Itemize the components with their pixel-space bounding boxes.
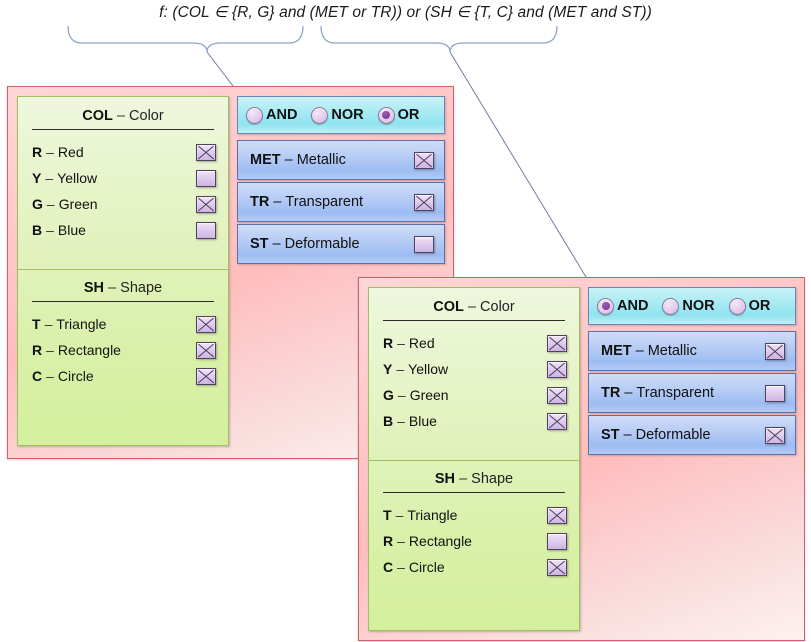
checkbox-color-r-1[interactable] [196,144,216,161]
predicate-code: ST [601,427,620,443]
attribute-group-color-1: COL – Color R – Red Y – [18,97,228,249]
option-code: R [32,342,42,358]
option-code: B [383,413,393,429]
option-dash: – [47,196,55,212]
predicate-label: Transparent [285,194,363,210]
checkbox-color-g-1[interactable] [196,196,216,213]
group-dash-color-2: – [468,299,476,315]
connector-line-clause-2 [450,52,586,277]
option-dash: – [46,342,54,358]
group-name-shape-2: Shape [471,471,513,487]
checkbox-shape-t-2[interactable] [547,507,567,524]
predicate-column-1: AND NOR OR MET – Metallic TR [237,96,445,264]
predicate-dash: – [636,343,644,359]
option-row-shape-r-2[interactable]: R – Rectangle [369,528,579,554]
checkbox-predicate-st-1[interactable] [414,236,434,253]
group-name-color-1: Color [129,108,164,124]
operator-option-nor-2[interactable]: NOR [662,298,714,315]
checkbox-color-y-2[interactable] [547,361,567,378]
option-dash: – [396,507,404,523]
option-row-shape-t-2[interactable]: T – Triangle [369,502,579,528]
predicate-code: TR [250,194,269,210]
checkbox-predicate-tr-2[interactable] [765,385,785,402]
option-row-shape-t-1[interactable]: T – Triangle [18,311,228,337]
checkbox-predicate-met-2[interactable] [765,343,785,360]
group-title-shape-1: SH – Shape [18,269,228,300]
option-code: C [383,559,393,575]
option-label: Red [58,144,84,160]
option-label: Red [409,335,435,351]
attribute-column-2: COL – Color R – Red Y – [368,287,580,631]
option-row-color-b-2[interactable]: B – Blue [369,408,579,434]
operator-selector-1[interactable]: AND NOR OR [237,96,445,134]
predicate-dash: – [273,194,281,210]
option-row-color-r-1[interactable]: R – Red [18,139,228,165]
radio-nor-icon-1[interactable] [311,107,328,124]
group-dash-shape-2: – [459,471,467,487]
attribute-group-shape-1: SH – Shape T – Triangle R – [18,269,228,395]
checkbox-color-y-1[interactable] [196,170,216,187]
predicate-label: Metallic [648,343,697,359]
option-code: C [32,368,42,384]
group-dash-color-1: – [117,108,125,124]
radio-or-icon-2[interactable] [729,298,746,315]
option-dash: – [397,559,405,575]
operator-label: NOR [682,298,714,314]
attribute-group-shape-2: SH – Shape T – Triangle R – [369,460,579,586]
group-title-color-1: COL – Color [18,97,228,128]
checkbox-color-g-2[interactable] [547,387,567,404]
checkbox-predicate-met-1[interactable] [414,152,434,169]
option-dash: – [397,335,405,351]
option-row-color-y-2[interactable]: Y – Yellow [369,356,579,382]
formula-expression: f: (COL ∈ {R, G} and (MET or TR)) or (SH… [0,3,811,22]
option-label: Rectangle [409,533,472,549]
predicate-dash: – [624,427,632,443]
option-label: Yellow [57,170,97,186]
option-label: Blue [409,413,437,429]
option-label: Green [59,196,98,212]
radio-or-icon-1[interactable] [378,107,395,124]
option-dash: – [46,368,54,384]
option-row-color-b-1[interactable]: B – Blue [18,217,228,243]
checkbox-color-r-2[interactable] [547,335,567,352]
option-code: Y [32,170,41,186]
predicate-row-st-2[interactable]: ST – Deformable [588,415,796,455]
predicate-code: MET [601,343,632,359]
operator-label: AND [266,107,297,123]
predicate-column-2: AND NOR OR MET – Metallic TR [588,287,796,455]
color-option-list-1: R – Red Y – Yellow G [18,130,228,249]
predicate-dash: – [624,385,632,401]
predicate-label: Metallic [297,152,346,168]
group-code-shape-1: SH [84,280,104,296]
option-dash: – [398,387,406,403]
checkbox-predicate-st-2[interactable] [765,427,785,444]
option-label: Circle [58,368,94,384]
group-code-shape-2: SH [435,471,455,487]
connector-line-clause-1 [207,52,233,86]
option-code: G [32,196,43,212]
option-label: Blue [58,222,86,238]
option-row-color-r-2[interactable]: R – Red [369,330,579,356]
operator-option-or-1[interactable]: OR [378,107,420,124]
radio-and-icon-1[interactable] [246,107,263,124]
checkbox-shape-r-2[interactable] [547,533,567,550]
operator-option-or-2[interactable]: OR [729,298,771,315]
checkbox-color-b-2[interactable] [547,413,567,430]
option-row-shape-r-1[interactable]: R – Rectangle [18,337,228,363]
checkbox-shape-r-1[interactable] [196,342,216,359]
brace-right [321,26,557,52]
option-label: Triangle [56,316,106,332]
predicate-label: Transparent [636,385,714,401]
option-dash: – [396,361,404,377]
operator-selector-2[interactable]: AND NOR OR [588,287,796,325]
shape-option-list-2: T – Triangle R – Rectangle C [369,493,579,586]
option-label: Rectangle [58,342,121,358]
operator-label: NOR [331,107,363,123]
operator-label: OR [398,107,420,123]
option-dash: – [397,413,405,429]
attribute-column-1: COL – Color R – Red Y – [17,96,229,446]
option-row-shape-c-1[interactable]: C – Circle [18,363,228,389]
clause-card-2[interactable]: COL – Color R – Red Y – [358,277,805,641]
predicate-code: MET [250,152,281,168]
option-dash: – [397,533,405,549]
option-label: Triangle [407,507,457,523]
option-code: T [32,316,41,332]
option-row-color-y-1[interactable]: Y – Yellow [18,165,228,191]
predicate-dash: – [285,152,293,168]
shape-option-list-1: T – Triangle R – Rectangle C [18,302,228,395]
option-code: B [32,222,42,238]
option-code: G [383,387,394,403]
group-title-shape-2: SH – Shape [369,460,579,491]
operator-option-and-1[interactable]: AND [246,107,297,124]
option-label: Green [410,387,449,403]
option-code: T [383,507,392,523]
predicate-row-met-2[interactable]: MET – Metallic [588,331,796,371]
brace-left [68,26,303,52]
attribute-group-color-2: COL – Color R – Red Y – [369,288,579,440]
group-code-color-1: COL [82,108,113,124]
predicate-label: Deformable [285,236,360,252]
predicate-code: ST [250,236,269,252]
predicate-row-st-1[interactable]: ST – Deformable [237,224,445,264]
option-code: R [383,533,393,549]
option-dash: – [45,170,53,186]
color-option-list-2: R – Red Y – Yellow G [369,321,579,440]
option-code: Y [383,361,392,377]
predicate-label: Deformable [636,427,711,443]
group-title-color-2: COL – Color [369,288,579,319]
option-row-color-g-2[interactable]: G – Green [369,382,579,408]
option-dash: – [45,316,53,332]
checkbox-shape-t-1[interactable] [196,316,216,333]
option-row-shape-c-2[interactable]: C – Circle [369,554,579,580]
checkbox-predicate-tr-1[interactable] [414,194,434,211]
operator-label: OR [749,298,771,314]
option-row-color-g-1[interactable]: G – Green [18,191,228,217]
operator-option-nor-1[interactable]: NOR [311,107,363,124]
radio-and-icon-2[interactable] [597,298,614,315]
predicate-row-tr-2[interactable]: TR – Transparent [588,373,796,413]
operator-label: AND [617,298,648,314]
checkbox-color-b-1[interactable] [196,222,216,239]
operator-option-and-2[interactable]: AND [597,298,648,315]
diagram-canvas: f: (COL ∈ {R, G} and (MET or TR)) or (SH… [0,0,811,642]
checkbox-shape-c-1[interactable] [196,368,216,385]
option-code: R [32,144,42,160]
predicate-row-met-1[interactable]: MET – Metallic [237,140,445,180]
option-dash: – [46,222,54,238]
group-name-color-2: Color [480,299,515,315]
predicate-code: TR [601,385,620,401]
option-dash: – [46,144,54,160]
predicate-row-tr-1[interactable]: TR – Transparent [237,182,445,222]
group-dash-shape-1: – [108,280,116,296]
checkbox-shape-c-2[interactable] [547,559,567,576]
radio-nor-icon-2[interactable] [662,298,679,315]
predicate-dash: – [273,236,281,252]
option-label: Yellow [408,361,448,377]
option-code: R [383,335,393,351]
group-code-color-2: COL [433,299,464,315]
group-name-shape-1: Shape [120,280,162,296]
option-label: Circle [409,559,445,575]
